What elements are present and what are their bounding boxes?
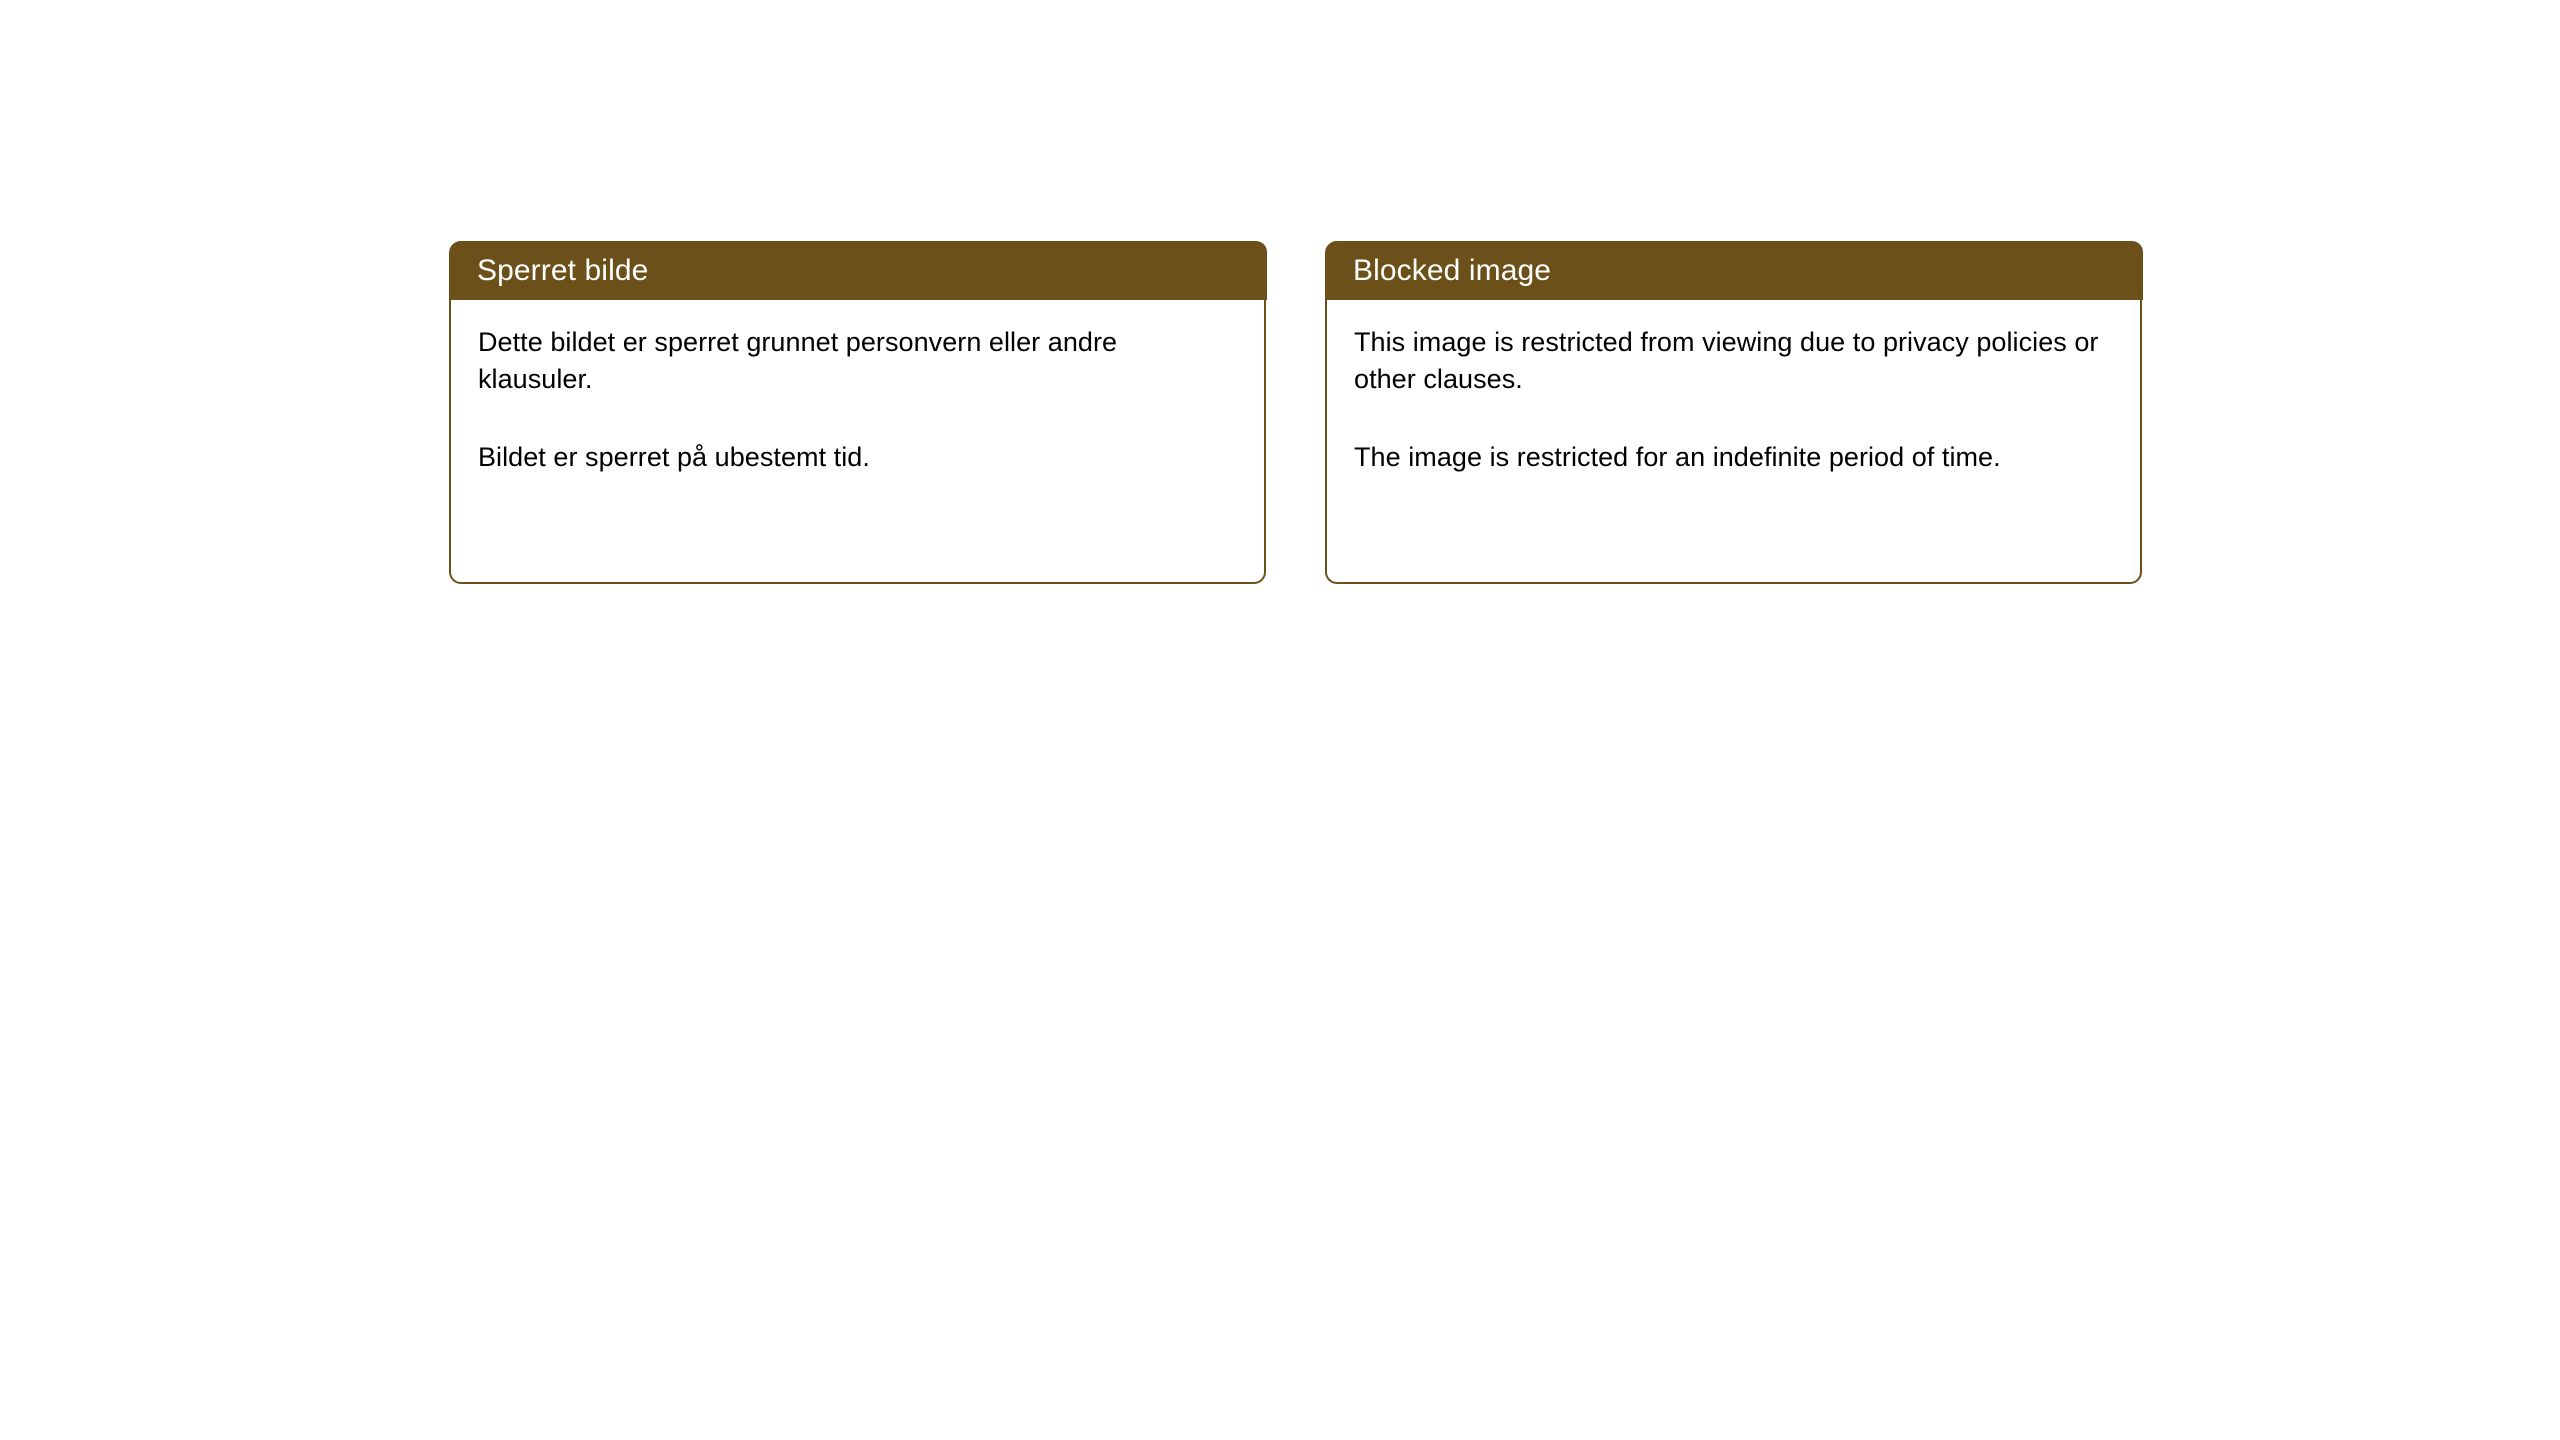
notice-header-english: Blocked image (1326, 241, 2143, 300)
notice-body-norwegian: Dette bildet er sperret grunnet personve… (451, 300, 1264, 476)
notice-paragraph-reason-english: This image is restricted from viewing du… (1354, 324, 2114, 398)
notice-title-norwegian: Sperret bilde (450, 254, 648, 288)
notice-paragraph-duration-english: The image is restricted for an indefinit… (1354, 439, 2114, 476)
page-canvas: Sperret bilde Dette bildet er sperret gr… (0, 0, 2560, 1440)
notice-title-english: Blocked image (1326, 254, 1551, 288)
notice-header-norwegian: Sperret bilde (450, 241, 1267, 300)
blocked-image-notice-norwegian: Sperret bilde Dette bildet er sperret gr… (449, 241, 1266, 584)
notice-body-english: This image is restricted from viewing du… (1327, 300, 2140, 476)
notice-paragraph-reason-norwegian: Dette bildet er sperret grunnet personve… (478, 324, 1238, 398)
blocked-image-notice-english: Blocked image This image is restricted f… (1325, 241, 2142, 584)
notice-paragraph-duration-norwegian: Bildet er sperret på ubestemt tid. (478, 439, 1238, 476)
